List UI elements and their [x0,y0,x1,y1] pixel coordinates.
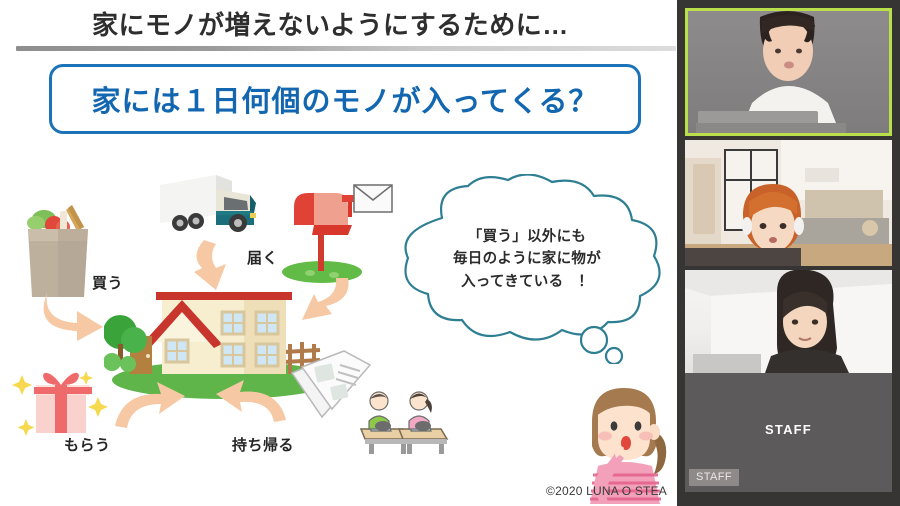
thought-bubble-line: 入ってきている ！ [382,271,672,293]
video-tile-participant-3[interactable]: STAFF STAFF [685,270,892,492]
arrow-gift-to-house [109,374,189,439]
arrow-newspaper-to-house [212,370,292,433]
question-text: 家には１日何個のモノが入ってくる？ [52,67,638,131]
students-at-desks-icon [359,385,459,457]
label-bring-home: 持ち帰る [232,434,294,455]
delivery-truck-icon [154,167,274,247]
participant-1-camera-feed [688,11,889,133]
thought-bubble: 「買う」以外にも毎日のように家に物が入ってきている ！ [382,174,672,364]
participant-2-camera-feed [685,140,892,266]
thought-bubble-line: 毎日のように家に物が [382,248,672,270]
slide-canvas: 家にモノが増えないようにするために… 家には１日何個のモノが入ってくる？ [4,2,675,504]
copyright-text: ©2020 LUNA O STEA [546,484,667,498]
zoom-meeting-window: 家にモノが増えないようにするために… 家には１日何個のモノが入ってくる？ [0,0,900,506]
question-box: 家には１日何個のモノが入ってくる？ [49,64,641,134]
thought-bubble-text: 「買う」以外にも毎日のように家に物が入ってきている ！ [382,226,672,293]
gift-box-icon [12,357,110,442]
page-title: 家にモノが増えないようにするために… [92,8,652,42]
title-divider [16,46,676,51]
label-receive: もらう [64,434,111,455]
participant-3-name-badge: STAFF [689,469,739,486]
video-tile-participant-2[interactable] [685,140,892,266]
participant-3-display-name: STAFF [685,422,892,437]
arrow-buy-to-house [39,287,109,352]
video-tile-participant-1[interactable] [685,8,892,136]
participant-video-panel: STAFF STAFF [677,0,900,506]
label-deliver: 届く [247,247,278,268]
participant-3-camera-feed [685,270,892,373]
arrow-mail-to-house [292,274,354,337]
shared-screen-slide[interactable]: 家にモノが増えないようにするために… 家には１日何個のモノが入ってくる？ [0,0,677,506]
arrow-truck-to-house [186,238,240,299]
thought-bubble-line: 「買う」以外にも [382,226,672,248]
